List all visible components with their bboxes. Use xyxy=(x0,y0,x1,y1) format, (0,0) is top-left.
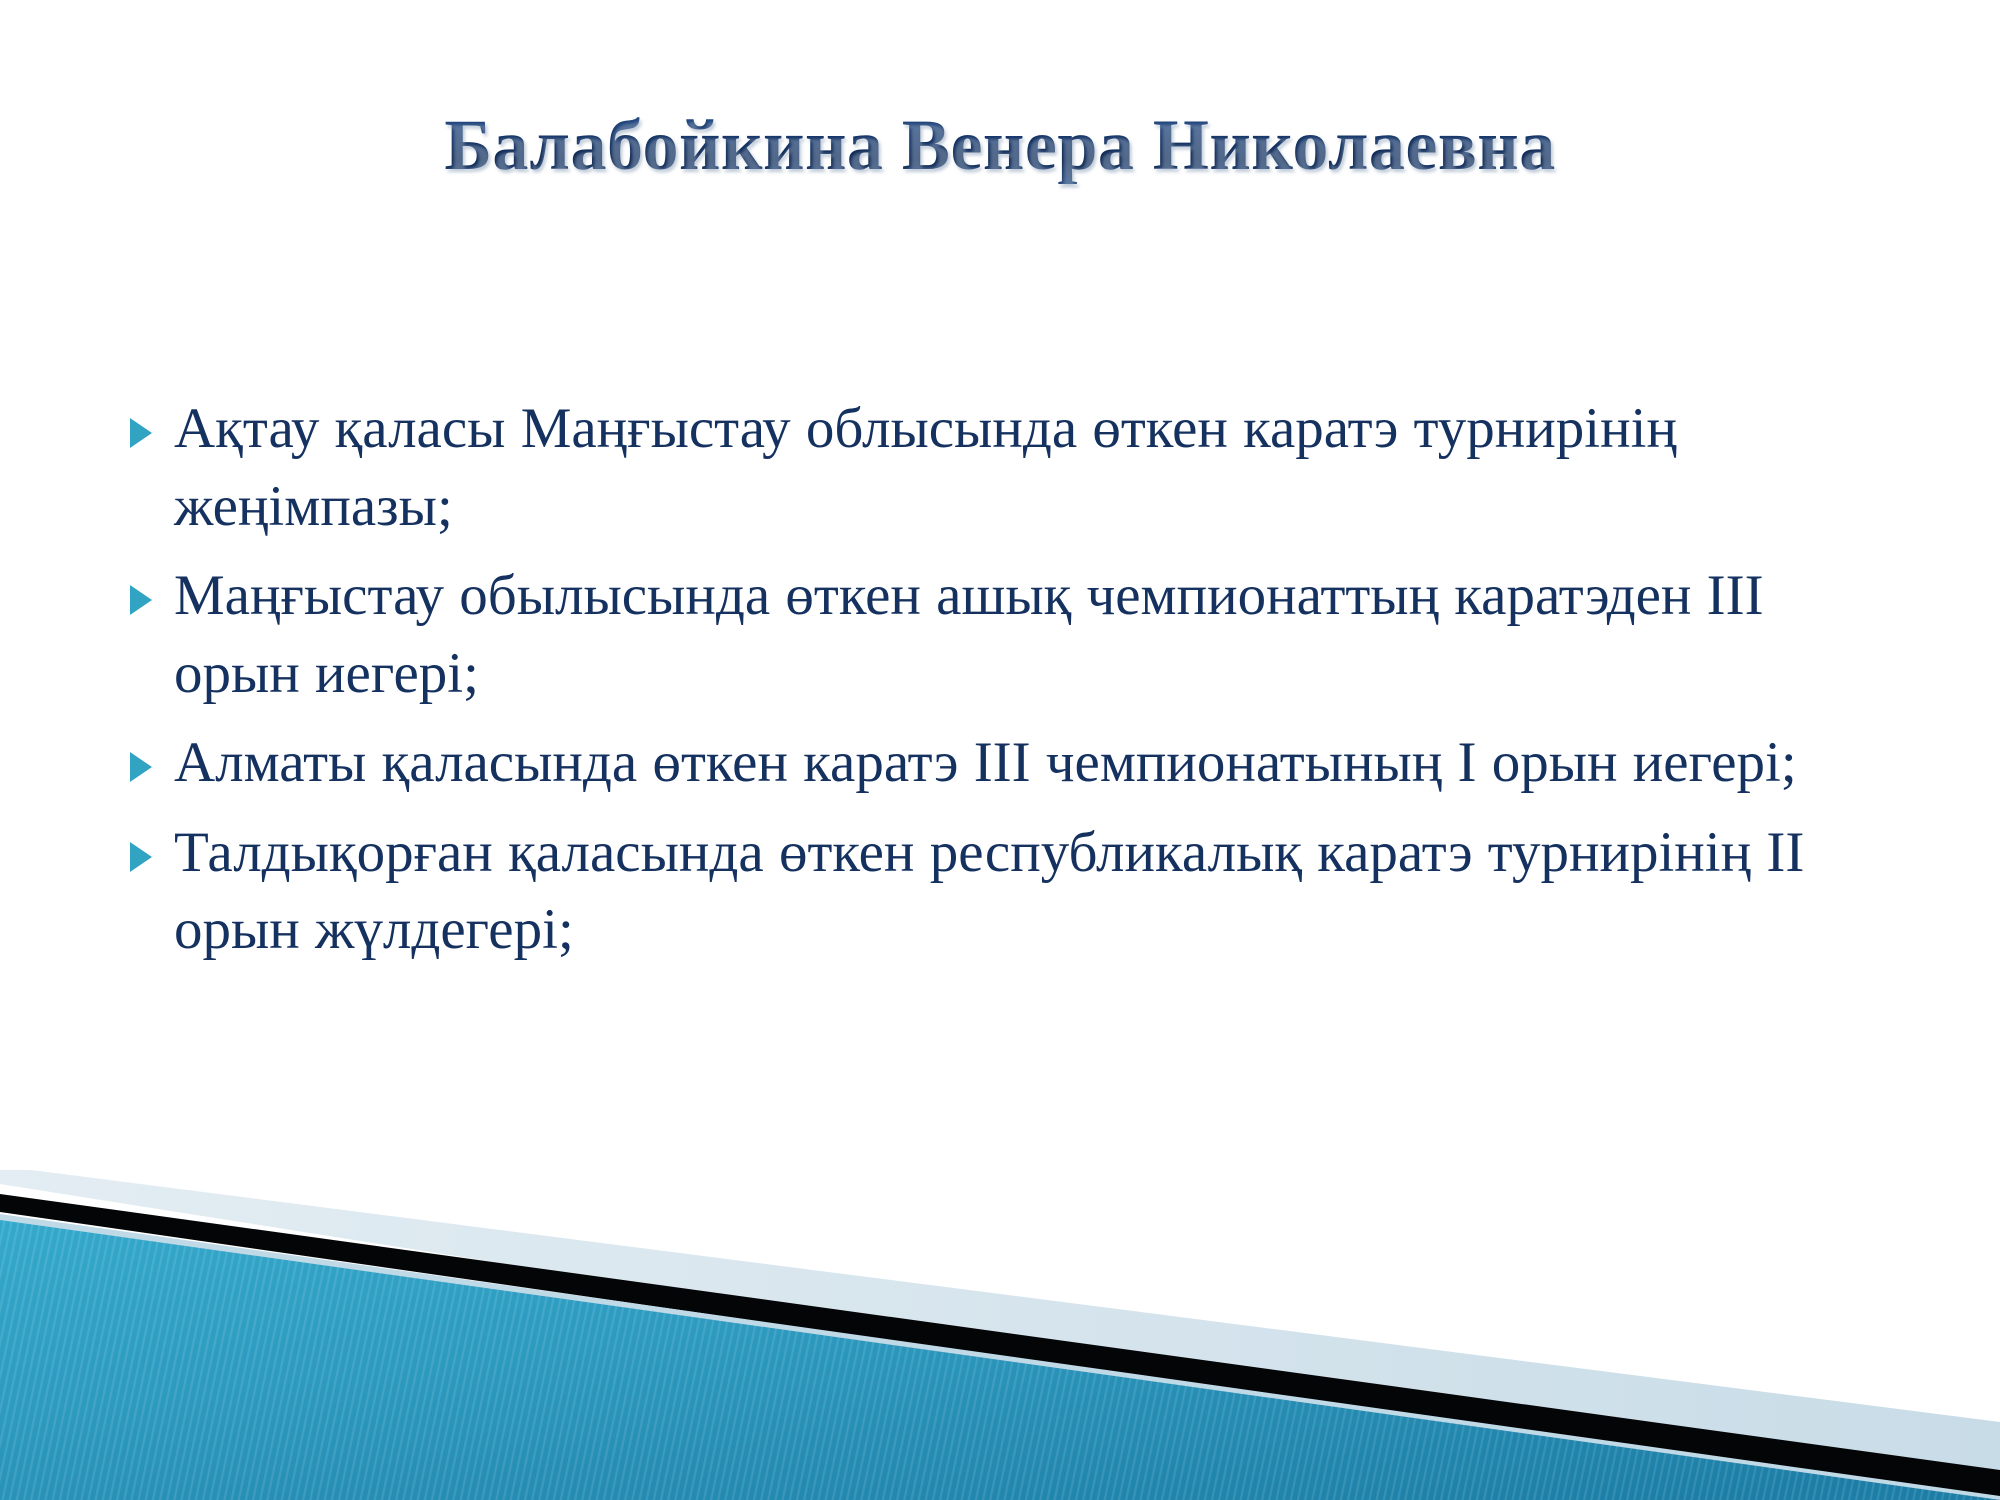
page-title: Балабойкина Венера Николаевна xyxy=(444,108,1555,184)
list-item-text: Ақтау қаласы Маңғыстау облысында өткен к… xyxy=(174,390,1888,545)
bullet-list: Ақтау қаласы Маңғыстау облысында өткен к… xyxy=(128,390,1888,981)
light-edge-band xyxy=(0,1214,2000,1500)
title-block: Балабойкина Венера Николаевна xyxy=(0,108,2000,184)
triangle-right-bullet-icon xyxy=(128,814,174,874)
list-item-text: Алматы қаласында өткен каратэ III чемпио… xyxy=(174,724,1888,802)
list-item-text: Маңғыстау обылысында өткен ашық чемпиона… xyxy=(174,557,1888,712)
triangle-right-bullet-icon xyxy=(128,724,174,784)
teal-band xyxy=(0,1220,2000,1500)
triangle-right-bullet-icon xyxy=(128,390,174,450)
triangle-right-bullet-icon xyxy=(128,557,174,617)
list-item: Ақтау қаласы Маңғыстау облысында өткен к… xyxy=(128,390,1888,545)
black-band xyxy=(0,1194,2000,1500)
pale-band xyxy=(0,1170,2000,1500)
list-item: Талдықорған қаласында өткен республикалы… xyxy=(128,814,1888,969)
list-item-text: Талдықорған қаласында өткен республикалы… xyxy=(174,814,1888,969)
corner-decoration xyxy=(0,1170,2000,1500)
slide: Балабойкина Венера Николаевна Ақтау қала… xyxy=(0,0,2000,1500)
list-item: Маңғыстау обылысында өткен ашық чемпиона… xyxy=(128,557,1888,712)
list-item: Алматы қаласында өткен каратэ III чемпио… xyxy=(128,724,1888,802)
teal-band-hatch xyxy=(0,1220,2000,1500)
